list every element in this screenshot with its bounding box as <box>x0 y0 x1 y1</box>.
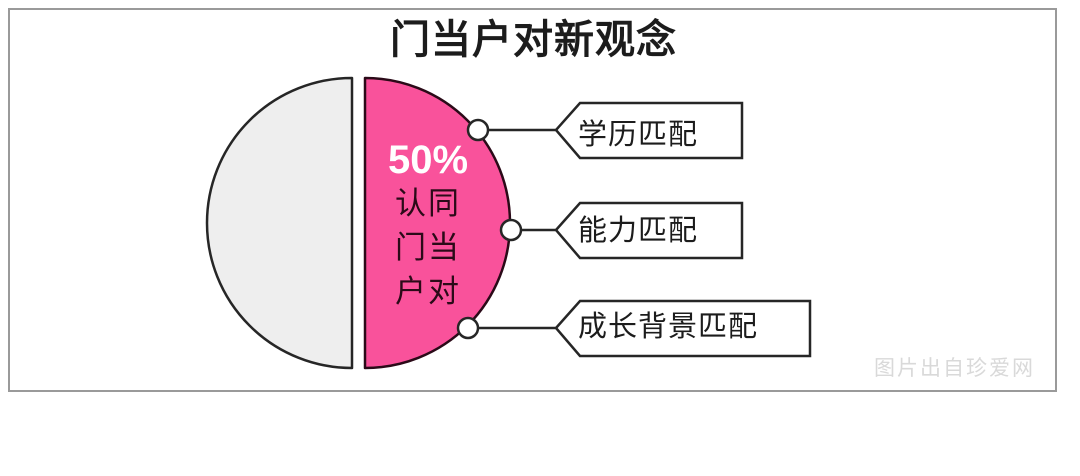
callout-label-background-match[interactable]: 成长背景匹配 <box>578 312 758 342</box>
image-frame <box>8 8 1057 392</box>
watermark-text: 图片出自珍爱网 <box>874 352 1035 382</box>
callout-label-education-match[interactable]: 学历匹配 <box>578 120 698 150</box>
pie-center-line-1: 认同 <box>372 182 484 226</box>
pie-center-line-2: 门当 <box>372 226 484 270</box>
callout-label-ability-match[interactable]: 能力匹配 <box>578 216 698 246</box>
pie-percent-label: 50% <box>372 138 484 182</box>
pie-center-line-3: 户对 <box>372 270 484 314</box>
pie-center-label-group: 50% 认同 门当 户对 <box>372 138 484 314</box>
page-title: 门当户对新观念 <box>390 16 677 64</box>
